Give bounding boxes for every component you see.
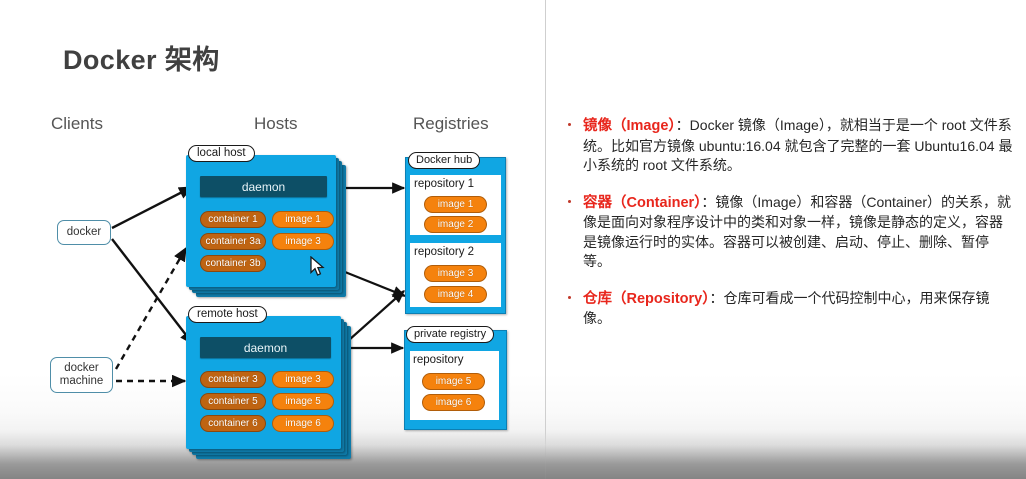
host-local-label: local host bbox=[188, 145, 255, 162]
host-local-image-3[interactable]: image 3 bbox=[272, 233, 334, 250]
host-remote-container-3[interactable]: container 3 bbox=[200, 371, 266, 388]
host-local-container-3b[interactable]: container 3b bbox=[200, 255, 266, 272]
host-local[interactable]: local host daemon container 1 container … bbox=[186, 155, 361, 300]
docker-hub-repo1-image-2[interactable]: image 2 bbox=[424, 216, 487, 233]
bullet-image: 镜像（Image）：Docker 镜像（Image），就相当于是一个 root … bbox=[566, 116, 1016, 176]
bullet-repository-term: 仓库（Repository） bbox=[583, 291, 710, 307]
docker-hub-repo2-image-3[interactable]: image 3 bbox=[424, 265, 487, 282]
concepts-text-panel: 镜像（Image）：Docker 镜像（Image），就相当于是一个 root … bbox=[566, 116, 1016, 346]
host-local-daemon[interactable]: daemon bbox=[200, 176, 327, 197]
docker-architecture-diagram: Clients Hosts Registries bbox=[0, 0, 545, 479]
bottom-gradient-band bbox=[0, 430, 1026, 479]
registry-docker-hub-label: Docker hub bbox=[408, 152, 480, 169]
host-local-container-3a[interactable]: container 3a bbox=[200, 233, 266, 250]
docker-hub-repository-2-title: repository 2 bbox=[414, 246, 474, 258]
host-remote-container-5[interactable]: container 5 bbox=[200, 393, 266, 410]
bullet-repository-separator: ： bbox=[710, 290, 724, 306]
bullet-container-term: 容器（Container） bbox=[583, 195, 701, 211]
host-remote-image-3[interactable]: image 3 bbox=[272, 371, 334, 388]
host-remote-container-6[interactable]: container 6 bbox=[200, 415, 266, 432]
host-local-container-1[interactable]: container 1 bbox=[200, 211, 266, 228]
host-remote-image-6[interactable]: image 6 bbox=[272, 415, 334, 432]
host-remote-label: remote host bbox=[188, 306, 267, 323]
docker-hub-repository-1-title: repository 1 bbox=[414, 178, 474, 190]
bullet-dot-icon bbox=[568, 123, 571, 126]
bullet-repository: 仓库（Repository）：仓库可看成一个代码控制中心，用来保存镜像。 bbox=[566, 289, 1016, 329]
slide-canvas: Docker 架构 Clients Hosts Registries bbox=[0, 0, 1026, 479]
bullet-container: 容器（Container）：镜像（Image）和容器（Container）的关系… bbox=[566, 193, 1016, 272]
docker-hub-repo2-image-4[interactable]: image 4 bbox=[424, 286, 487, 303]
bullet-dot-icon bbox=[568, 200, 571, 203]
docker-hub-repo1-image-1[interactable]: image 1 bbox=[424, 196, 487, 213]
panel-divider bbox=[545, 0, 546, 479]
client-docker-machine[interactable]: docker machine bbox=[50, 357, 113, 393]
registry-private-label: private registry bbox=[406, 326, 494, 343]
private-registry-image-5[interactable]: image 5 bbox=[422, 373, 485, 390]
client-docker[interactable]: docker bbox=[57, 220, 111, 245]
host-local-image-1[interactable]: image 1 bbox=[272, 211, 334, 228]
private-registry-repository-title: repository bbox=[413, 354, 464, 366]
bullet-container-separator: ： bbox=[701, 194, 715, 210]
host-remote-image-5[interactable]: image 5 bbox=[272, 393, 334, 410]
private-registry-image-6[interactable]: image 6 bbox=[422, 394, 485, 411]
host-remote-daemon[interactable]: daemon bbox=[200, 337, 331, 358]
bullet-image-term: 镜像（Image） bbox=[583, 118, 676, 134]
bullet-dot-icon bbox=[568, 296, 571, 299]
client-docker-label: docker bbox=[67, 226, 102, 239]
bullet-image-separator: ： bbox=[676, 117, 690, 133]
client-docker-machine-label-line1: docker bbox=[64, 362, 99, 375]
mouse-cursor-icon bbox=[310, 256, 326, 278]
client-docker-machine-label-line2: machine bbox=[60, 375, 103, 388]
host-remote[interactable]: remote host daemon container 3 container… bbox=[186, 316, 381, 466]
